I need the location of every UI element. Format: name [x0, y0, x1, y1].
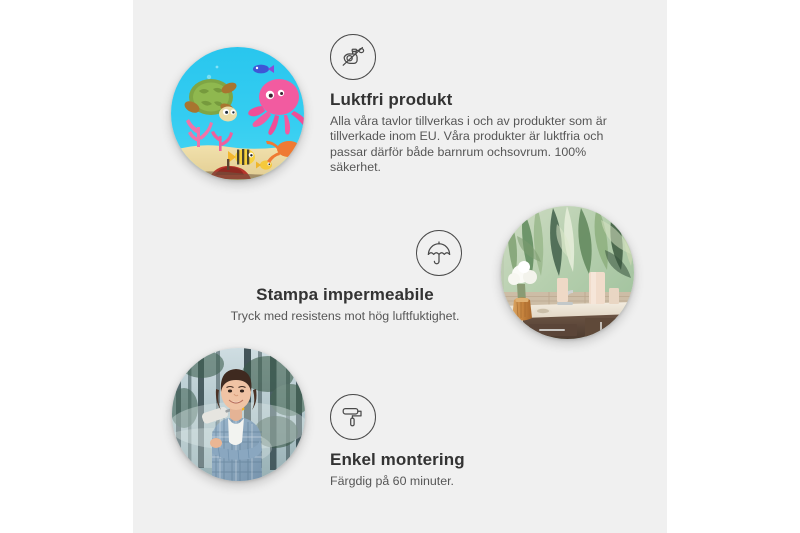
feature-body: Tryck med resistens mot hög luftfuktighe…	[205, 309, 485, 324]
umbrella-icon	[416, 230, 462, 276]
feature-body: Alla våra tavlor tillverkas i och av pro…	[330, 114, 622, 176]
feature-title: Enkel montering	[330, 449, 620, 470]
paint-roller-icon	[330, 394, 376, 440]
feature-body: Färgdig på 60 minuter.	[330, 474, 620, 489]
feature-odourless-product: Luktfri produkt Alla våra tavlor tillver…	[330, 34, 630, 176]
feature-waterproof-print: Stampa impermeabile Tryck med resistens …	[205, 230, 485, 324]
no-fragrance-icon	[330, 34, 376, 80]
feature-title: Luktfri produkt	[330, 89, 630, 110]
bathroom-vanity-photo	[501, 206, 634, 339]
woman-with-paint-roller-photo	[172, 348, 305, 481]
infographic-canvas: Luktfri produkt Alla våra tavlor tillver…	[0, 0, 800, 533]
feature-title: Stampa impermeabile	[205, 284, 485, 305]
underwater-cartoon-photo	[171, 47, 304, 180]
feature-easy-mounting: Enkel montering Färgdig på 60 minuter.	[330, 394, 620, 489]
